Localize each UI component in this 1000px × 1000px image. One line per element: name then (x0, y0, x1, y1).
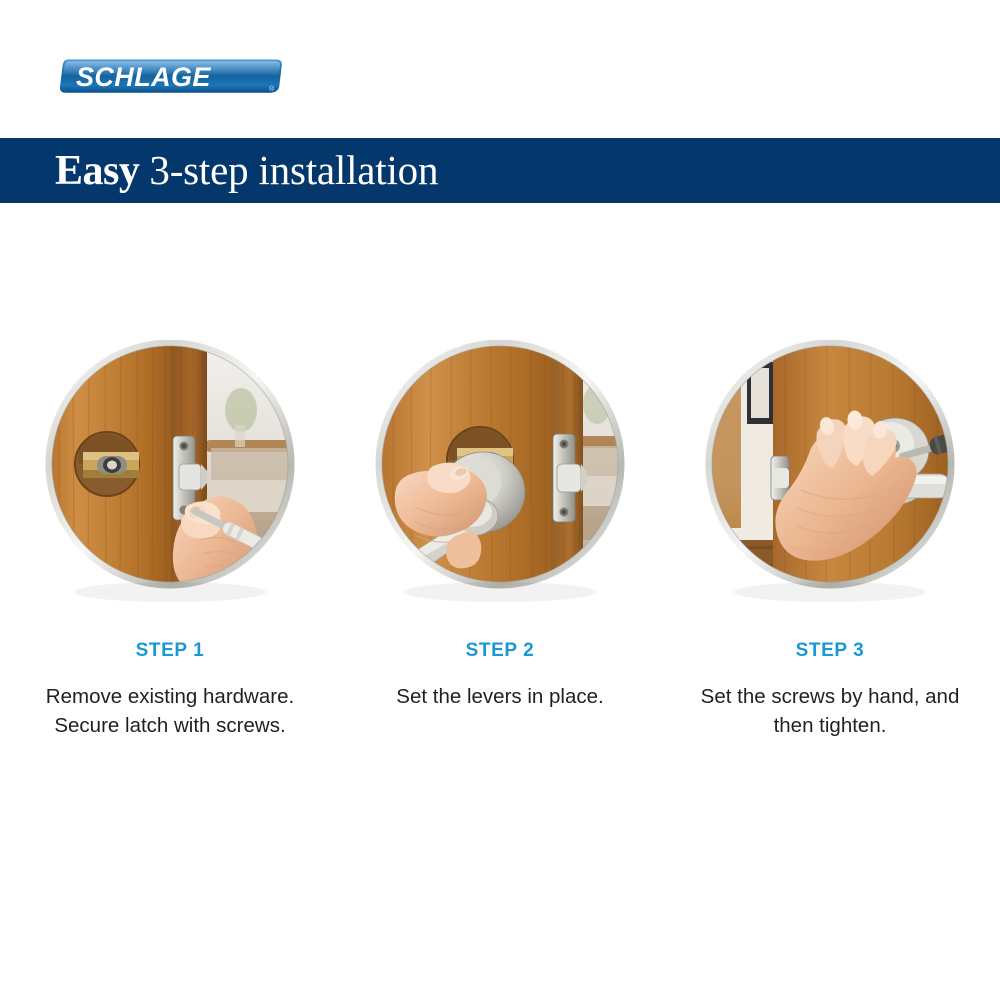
step-label-1: STEP 1 (136, 640, 205, 662)
step-description-1: Remove existing hardware. Secure latch w… (40, 682, 300, 740)
page-title: Easy 3-step installation (55, 150, 438, 192)
step-label-3: STEP 3 (796, 640, 865, 662)
step-label-2: STEP 2 (466, 640, 535, 662)
header-band: Easy 3-step installation (0, 138, 1000, 203)
step-3-photo-svg (705, 340, 955, 630)
page-title-emphasis: Easy (55, 148, 139, 194)
step-card-3: STEP 3 Set the screws by hand, and then … (675, 340, 985, 740)
step-1-photo-svg (45, 340, 295, 630)
logo-area: SCHLAGE ® (0, 0, 1000, 138)
step-1-photo (45, 340, 295, 630)
step-description-2: Set the levers in place. (370, 682, 630, 711)
step-card-2: STEP 2 Set the levers in place. (345, 340, 655, 740)
step-3-photo (705, 340, 955, 630)
logo-wordmark: SCHLAGE (76, 62, 211, 92)
schlage-logo[interactable]: SCHLAGE ® (56, 52, 286, 100)
step-2-photo (375, 340, 625, 630)
schlage-logo-svg: SCHLAGE ® (56, 52, 286, 100)
step-card-1: STEP 1 Remove existing hardware. Secure … (15, 340, 325, 740)
steps-row: STEP 1 Remove existing hardware. Secure … (0, 340, 1000, 740)
step-description-3: Set the screws by hand, and then tighten… (700, 682, 960, 740)
logo-registered-mark: ® (269, 85, 275, 93)
page-title-rest: 3-step installation (139, 147, 438, 193)
step-2-photo-svg (375, 340, 625, 630)
